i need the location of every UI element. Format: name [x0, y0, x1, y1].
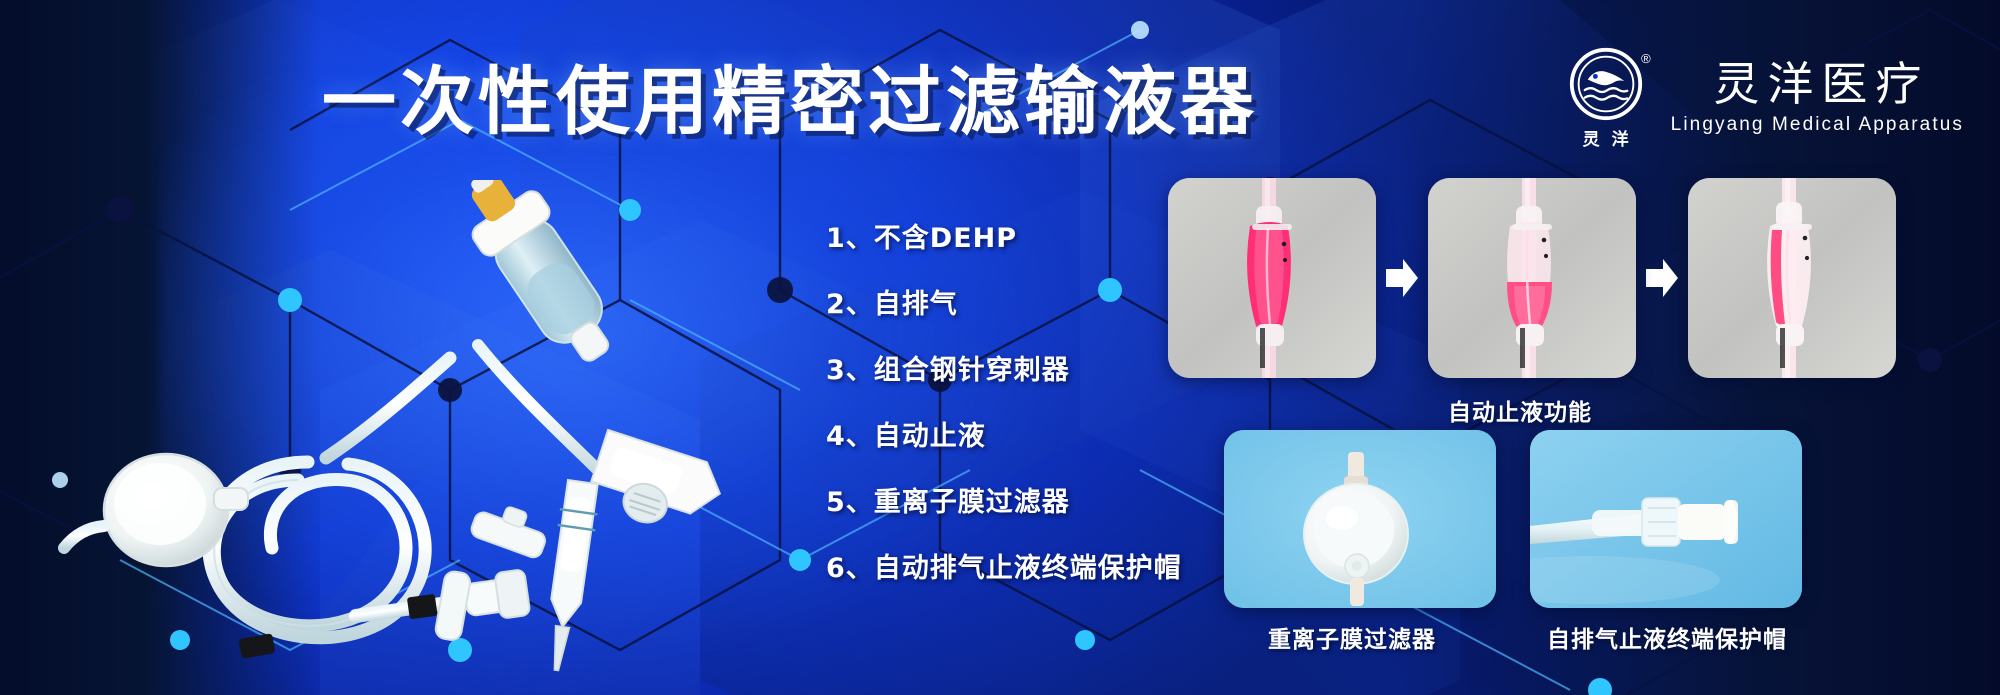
- logo-name-cn: 灵洋医疗: [1705, 60, 1929, 108]
- sequence-arrow-2: [1636, 256, 1688, 300]
- feature-item-2: 2、自排气: [826, 282, 1182, 321]
- logo-wordmark: 灵洋医疗 Lingyang Medical Apparatus: [1671, 60, 1964, 136]
- feature-item-5: 5、重离子膜过滤器: [826, 480, 1182, 519]
- banner-root: 一次性使用精密过滤输液器 ® 灵洋 灵洋医疗 Lingyang Medical …: [0, 0, 2000, 695]
- brand-logo: ® 灵洋 灵洋医疗 Lingyang Medical Apparatus: [1563, 46, 1964, 150]
- product-photo: [48, 180, 808, 680]
- sequence-frame-1: [1168, 178, 1376, 378]
- detail-panel-filter: [1224, 430, 1496, 608]
- logo-mark: ® 灵洋: [1563, 46, 1649, 150]
- detail-panel-endcap: [1530, 430, 1802, 608]
- detail-caption-filter: 重离子膜过滤器: [1268, 620, 1436, 654]
- logo-name-en: Lingyang Medical Apparatus: [1671, 114, 1964, 136]
- auto-stop-sequence: [1168, 178, 1896, 378]
- sequence-frame-3: [1688, 178, 1896, 378]
- feature-item-4: 4、自动止液: [826, 414, 1182, 453]
- logo-seal-text: 灵洋: [1571, 125, 1641, 150]
- banner-title: 一次性使用精密过滤输液器: [322, 42, 1258, 149]
- feature-item-3: 3、组合钢针穿刺器: [826, 348, 1182, 387]
- registered-mark: ®: [1641, 52, 1651, 65]
- detail-panel-row: [1224, 430, 1802, 608]
- wave-seal-icon: [1568, 46, 1644, 122]
- arrow-right-icon: [1644, 256, 1680, 300]
- sequence-frame-2: [1428, 178, 1636, 378]
- sequence-caption: 自动止液功能: [1448, 393, 1592, 427]
- feature-list: 1、不含DEHP 2、自排气 3、组合钢针穿刺器 4、自动止液 5、重离子膜过滤…: [826, 216, 1182, 585]
- feature-item-1: 1、不含DEHP: [826, 216, 1182, 255]
- detail-caption-endcap: 自排气止液终端保护帽: [1547, 620, 1787, 654]
- arrow-right-icon: [1384, 256, 1420, 300]
- sequence-arrow-1: [1376, 256, 1428, 300]
- feature-item-6: 6、自动排气止液终端保护帽: [826, 546, 1182, 585]
